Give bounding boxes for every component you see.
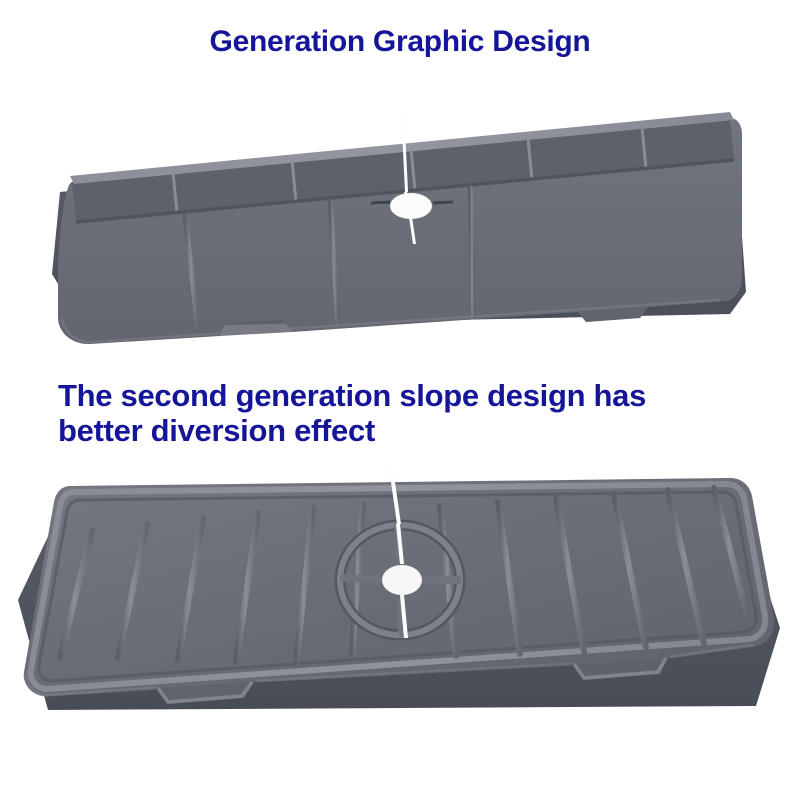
product-image-gen1 [30,96,770,346]
product-comparison-page: Generation Graphic Design [0,0,800,800]
gen2-mat-illustration [8,468,792,738]
heading-two-line-2: better diversion effect [58,413,768,448]
gen1-mat-illustration [30,96,770,346]
product-image-gen2 [8,468,792,738]
page-title-first-generation: Generation Graphic Design [0,24,800,60]
heading-two-line-1: The second generation slope design has [58,378,768,413]
page-title-second-generation: The second generation slope design has b… [58,378,768,448]
